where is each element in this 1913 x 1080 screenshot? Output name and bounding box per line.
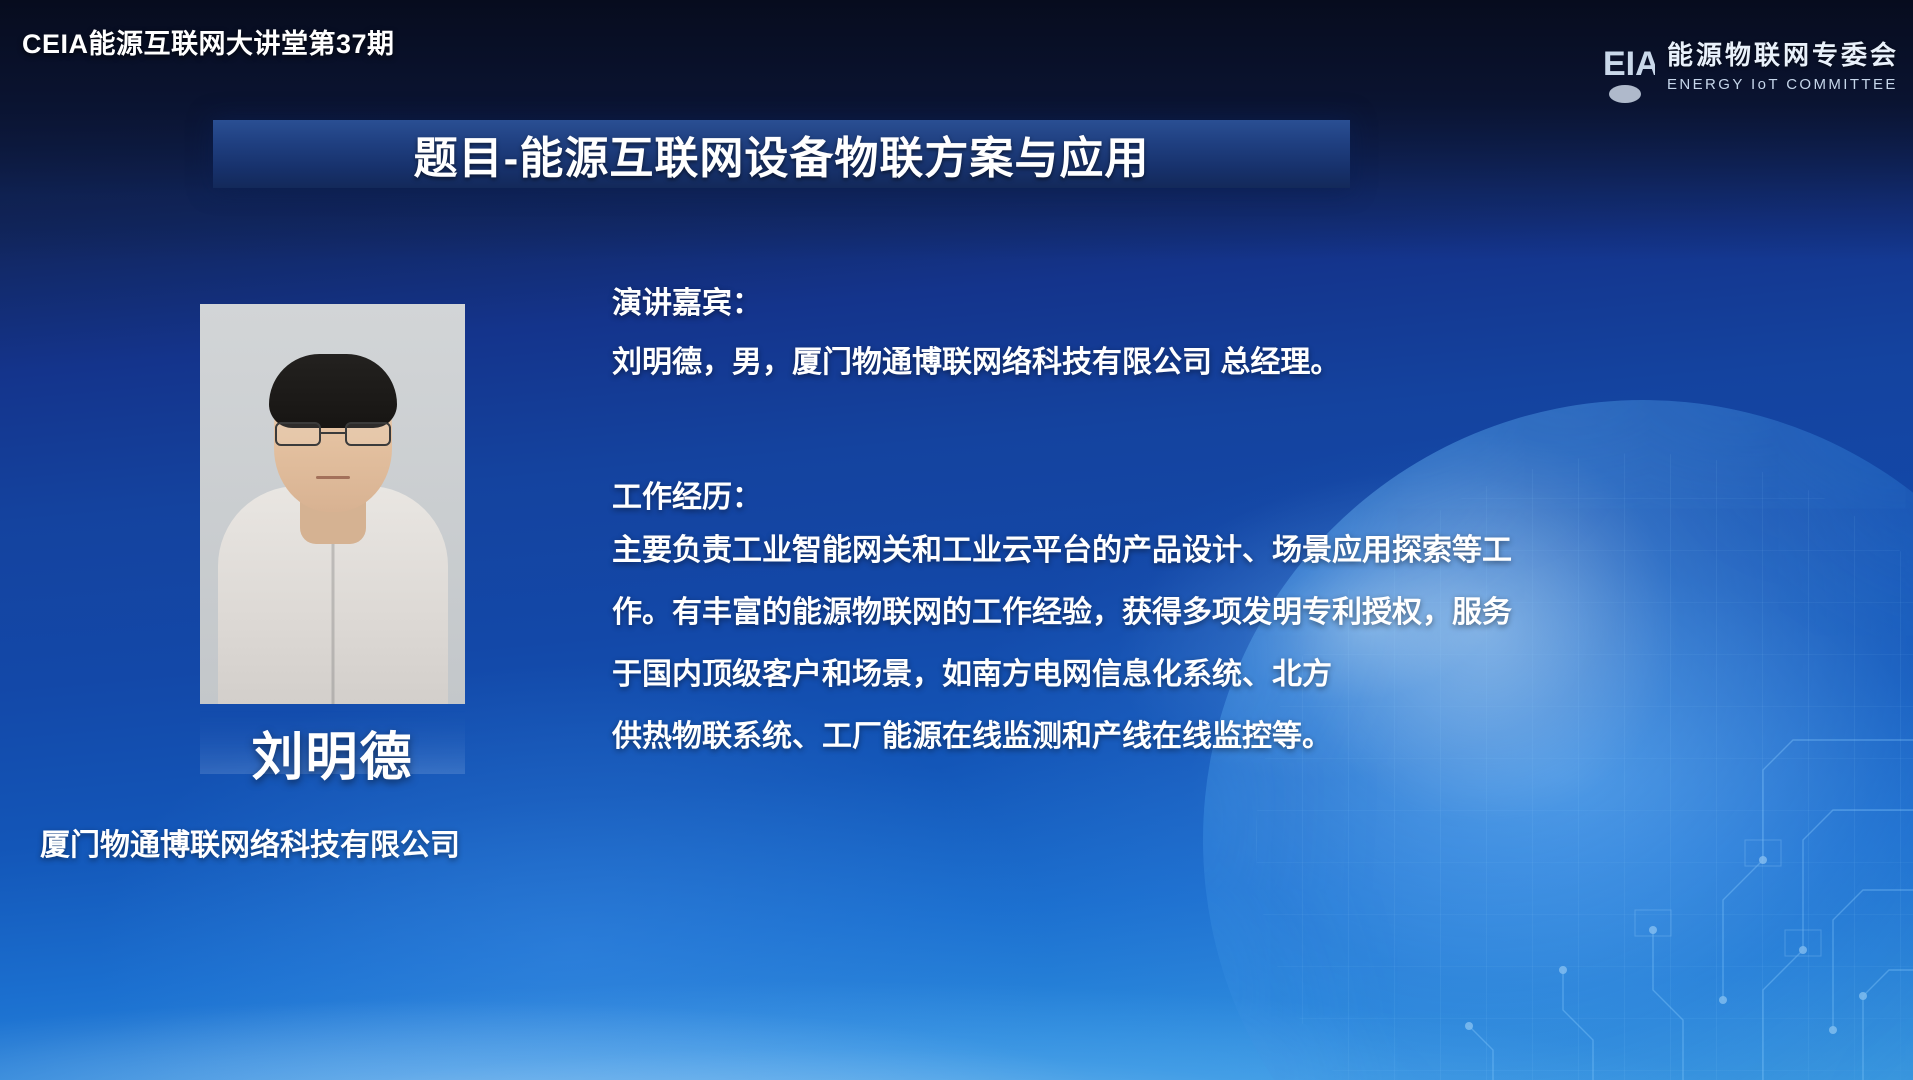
guest-line: 刘明德，男，厦门物通博联网络科技有限公司 总经理。 bbox=[612, 332, 1732, 394]
photo-mouth bbox=[316, 476, 350, 479]
logo-cn-name: 能源物联网专委会 bbox=[1667, 35, 1899, 72]
photo-hair bbox=[269, 354, 397, 428]
experience-line: 于国内顶级客户和场景，如南方电网信息化系统、北方 bbox=[612, 644, 1732, 706]
experience-line: 供热物联系统、工厂能源在线监测和产线在线监控等。 bbox=[612, 706, 1732, 768]
speaker-photo-frame bbox=[200, 304, 465, 704]
speaker-photo bbox=[200, 304, 465, 704]
experience-label: 工作经历： bbox=[612, 472, 1732, 516]
eia-logo: EIA 能源物联网专委会 ENERGY IoT COMMITTEE bbox=[1569, 18, 1899, 104]
experience-line: 作。有丰富的能源物联网的工作经验，获得多项发明专利授权，服务 bbox=[612, 582, 1732, 644]
title-band: 题目-能源互联网设备物联方案与应用 bbox=[213, 120, 1350, 188]
logo-en-name: ENERGY IoT COMMITTEE bbox=[1667, 76, 1899, 93]
page-title: 题目-能源互联网设备物联方案与应用 bbox=[414, 122, 1150, 186]
speaker-info-column: 演讲嘉宾： 刘明德，男，厦门物通博联网络科技有限公司 总经理。 工作经历： 主要… bbox=[612, 278, 1732, 768]
light-swoosh-graphic bbox=[0, 750, 1913, 1080]
experience-line: 主要负责工业智能网关和工业云平台的产品设计、场景应用探索等工 bbox=[612, 520, 1732, 582]
speaker-company: 厦门物通博联网络科技有限公司 bbox=[40, 820, 640, 864]
speaker-name: 刘明德 bbox=[200, 715, 465, 790]
series-eyebrow-title: CEIA能源互联网大讲堂第37期 bbox=[22, 22, 395, 61]
guest-label: 演讲嘉宾： bbox=[612, 278, 1732, 322]
slide-stage: CEIA能源互联网大讲堂第37期 EIA 能源物联网专委会 ENERGY IoT… bbox=[0, 0, 1913, 1080]
experience-block: 工作经历： 主要负责工业智能网关和工业云平台的产品设计、场景应用探索等工 作。有… bbox=[612, 472, 1732, 768]
photo-glasses-icon bbox=[275, 422, 391, 448]
guest-block: 演讲嘉宾： 刘明德，男，厦门物通博联网络科技有限公司 总经理。 bbox=[612, 278, 1732, 394]
eia-crescent-icon: EIA bbox=[1569, 18, 1655, 104]
svg-text:EIA: EIA bbox=[1603, 45, 1655, 83]
